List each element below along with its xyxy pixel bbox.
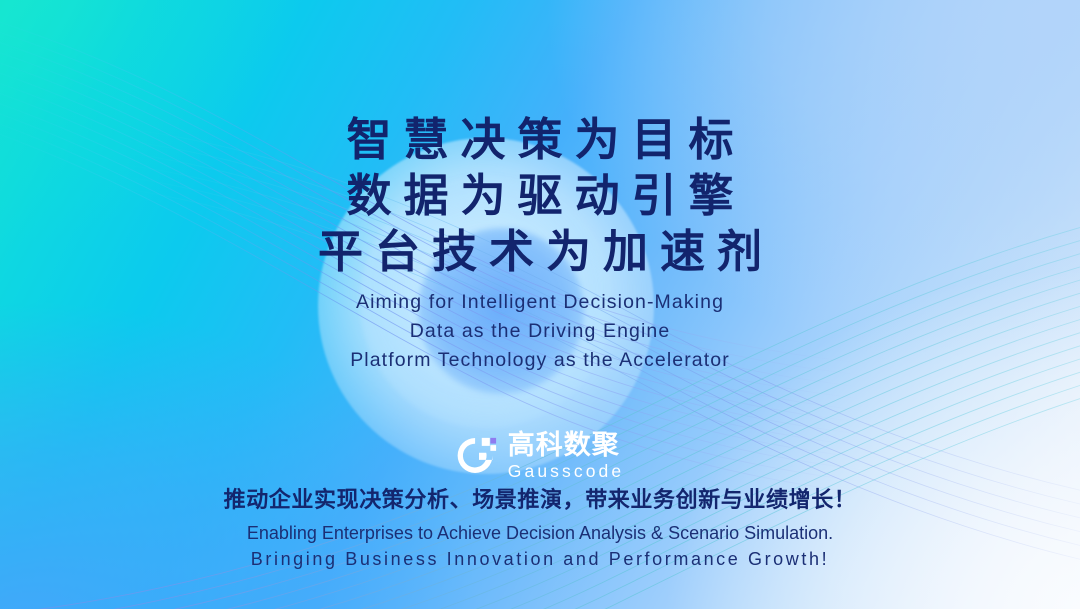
subheadline-line-1: Aiming for Intelligent Decision-Making [0,288,1080,317]
footer-block: 推动企业实现决策分析、场景推演，带来业务创新与业绩增长！ Enabling En… [0,484,1080,572]
subheadline-line-2: Data as the Driving Engine [0,317,1080,346]
footer-tagline-en-1: Enabling Enterprises to Achieve Decision… [0,520,1080,546]
headline-line-3: 平台技术为加速剂 [0,224,1080,280]
headline-block: 智慧决策为目标 数据为驱动引擎 平台技术为加速剂 [0,112,1080,280]
brand-logo: 高科数聚 Gausscode [0,430,1080,482]
brand-name-en: Gausscode [508,460,624,482]
banner-content: 智慧决策为目标 数据为驱动引擎 平台技术为加速剂 Aiming for Inte… [0,0,1080,609]
brand-logo-text: 高科数聚 Gausscode [508,430,624,482]
subheadline-line-3: Platform Technology as the Accelerator [0,346,1080,375]
footer-tagline-en-2: Bringing Business Innovation and Perform… [0,546,1080,572]
footer-tagline-cn: 推动企业实现决策分析、场景推演，带来业务创新与业绩增长！ [0,484,1080,516]
subheadline-block: Aiming for Intelligent Decision-Making D… [0,288,1080,375]
banner-canvas: 智慧决策为目标 数据为驱动引擎 平台技术为加速剂 Aiming for Inte… [0,0,1080,609]
headline-line-1: 智慧决策为目标 [0,112,1080,168]
headline-line-2: 数据为驱动引擎 [0,168,1080,224]
gausscode-g-mark-icon [456,435,498,477]
brand-name-cn: 高科数聚 [508,430,620,460]
